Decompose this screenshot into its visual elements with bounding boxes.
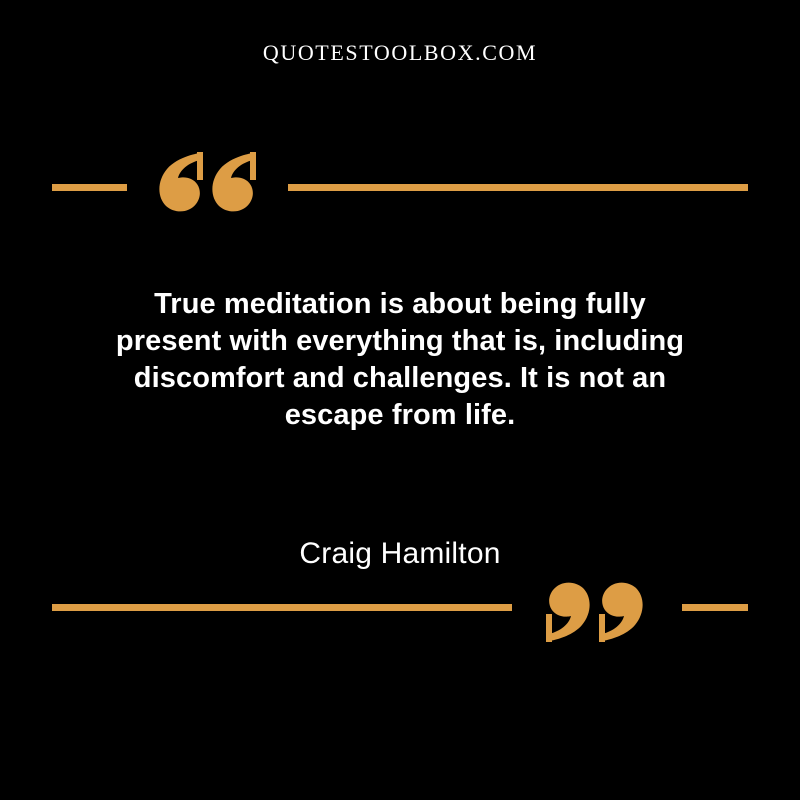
top-left-rule [52,184,127,191]
top-right-rule [288,184,748,191]
close-quote-icon [546,580,644,644]
bottom-left-rule [52,604,512,611]
author-name: Craig Hamilton [100,536,700,572]
quote-text: True meditation is about being fully pre… [100,286,700,434]
attribution: Craig Hamilton [100,536,700,572]
quote-body: True meditation is about being fully pre… [100,286,700,434]
bottom-right-rule [682,604,748,611]
site-header: QUOTESTOOLBOX.COM [0,42,800,65]
site-brand-text: QUOTESTOOLBOX.COM [263,42,537,64]
quote-card: QUOTESTOOLBOX.COM True meditation is abo… [0,0,800,800]
open-quote-icon [158,150,256,214]
